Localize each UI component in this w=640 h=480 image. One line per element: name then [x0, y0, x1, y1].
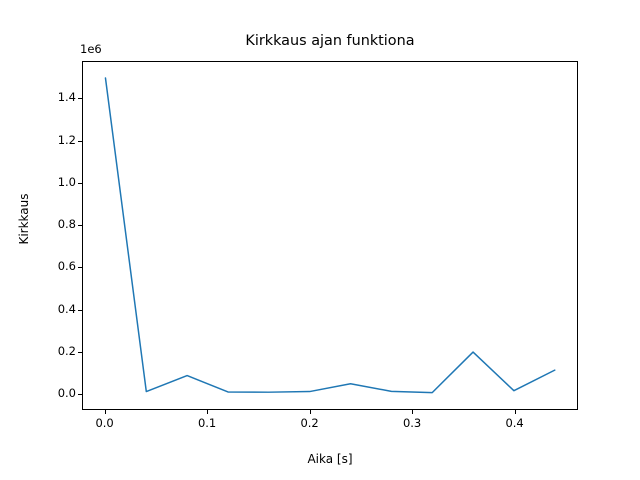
- y-tick-label-wrap: 1.2: [32, 135, 76, 147]
- x-tick-mark: [412, 410, 413, 414]
- y-axis-offset-label: 1e6: [80, 42, 102, 56]
- y-tick-label-wrap: 0.0: [32, 388, 76, 400]
- y-tick-label-wrap: 0.8: [32, 219, 76, 231]
- chart-title: Kirkkaus ajan funktiona: [82, 33, 578, 49]
- y-tick-label: 0.2: [36, 346, 76, 358]
- y-tick-label-wrap: 0.2: [32, 346, 76, 358]
- figure-canvas: Kirkkaus ajan funktiona 1e6 Kirkkaus Aik…: [0, 0, 640, 480]
- y-tick-label: 0.6: [36, 261, 76, 273]
- y-tick-label-wrap: 1.0: [32, 177, 76, 189]
- y-tick-label: 1.2: [36, 135, 76, 147]
- line-plot-svg: [83, 62, 577, 409]
- x-tick-label-wrap: 0.3: [387, 416, 437, 430]
- y-tick-label: 0.4: [36, 304, 76, 316]
- x-tick-mark: [310, 410, 311, 414]
- y-tick-label: 1.4: [36, 92, 76, 104]
- x-tick-label-wrap: 0.0: [80, 416, 130, 430]
- x-tick-mark: [105, 410, 106, 414]
- x-axis-label: Aika [s]: [82, 452, 578, 466]
- y-tick-label: 0.8: [36, 219, 76, 231]
- x-tick-label-wrap: 0.1: [182, 416, 232, 430]
- y-tick-label-wrap: 1.4: [32, 92, 76, 104]
- x-tick-label-wrap: 0.2: [285, 416, 335, 430]
- data-series-line: [105, 78, 554, 393]
- x-tick-mark: [207, 410, 208, 414]
- plot-area: [82, 61, 578, 410]
- y-tick-label: 0.0: [36, 388, 76, 400]
- y-tick-label: 1.0: [36, 177, 76, 189]
- x-tick-label: 0.3: [387, 416, 437, 430]
- x-tick-mark: [515, 410, 516, 414]
- y-axis-label: Kirkkaus: [17, 169, 31, 269]
- x-tick-label: 0.4: [490, 416, 540, 430]
- x-tick-label: 0.2: [285, 416, 335, 430]
- x-tick-label: 0.0: [80, 416, 130, 430]
- y-tick-label-wrap: 0.6: [32, 261, 76, 273]
- y-tick-label-wrap: 0.4: [32, 304, 76, 316]
- x-tick-label-wrap: 0.4: [490, 416, 540, 430]
- x-tick-label: 0.1: [182, 416, 232, 430]
